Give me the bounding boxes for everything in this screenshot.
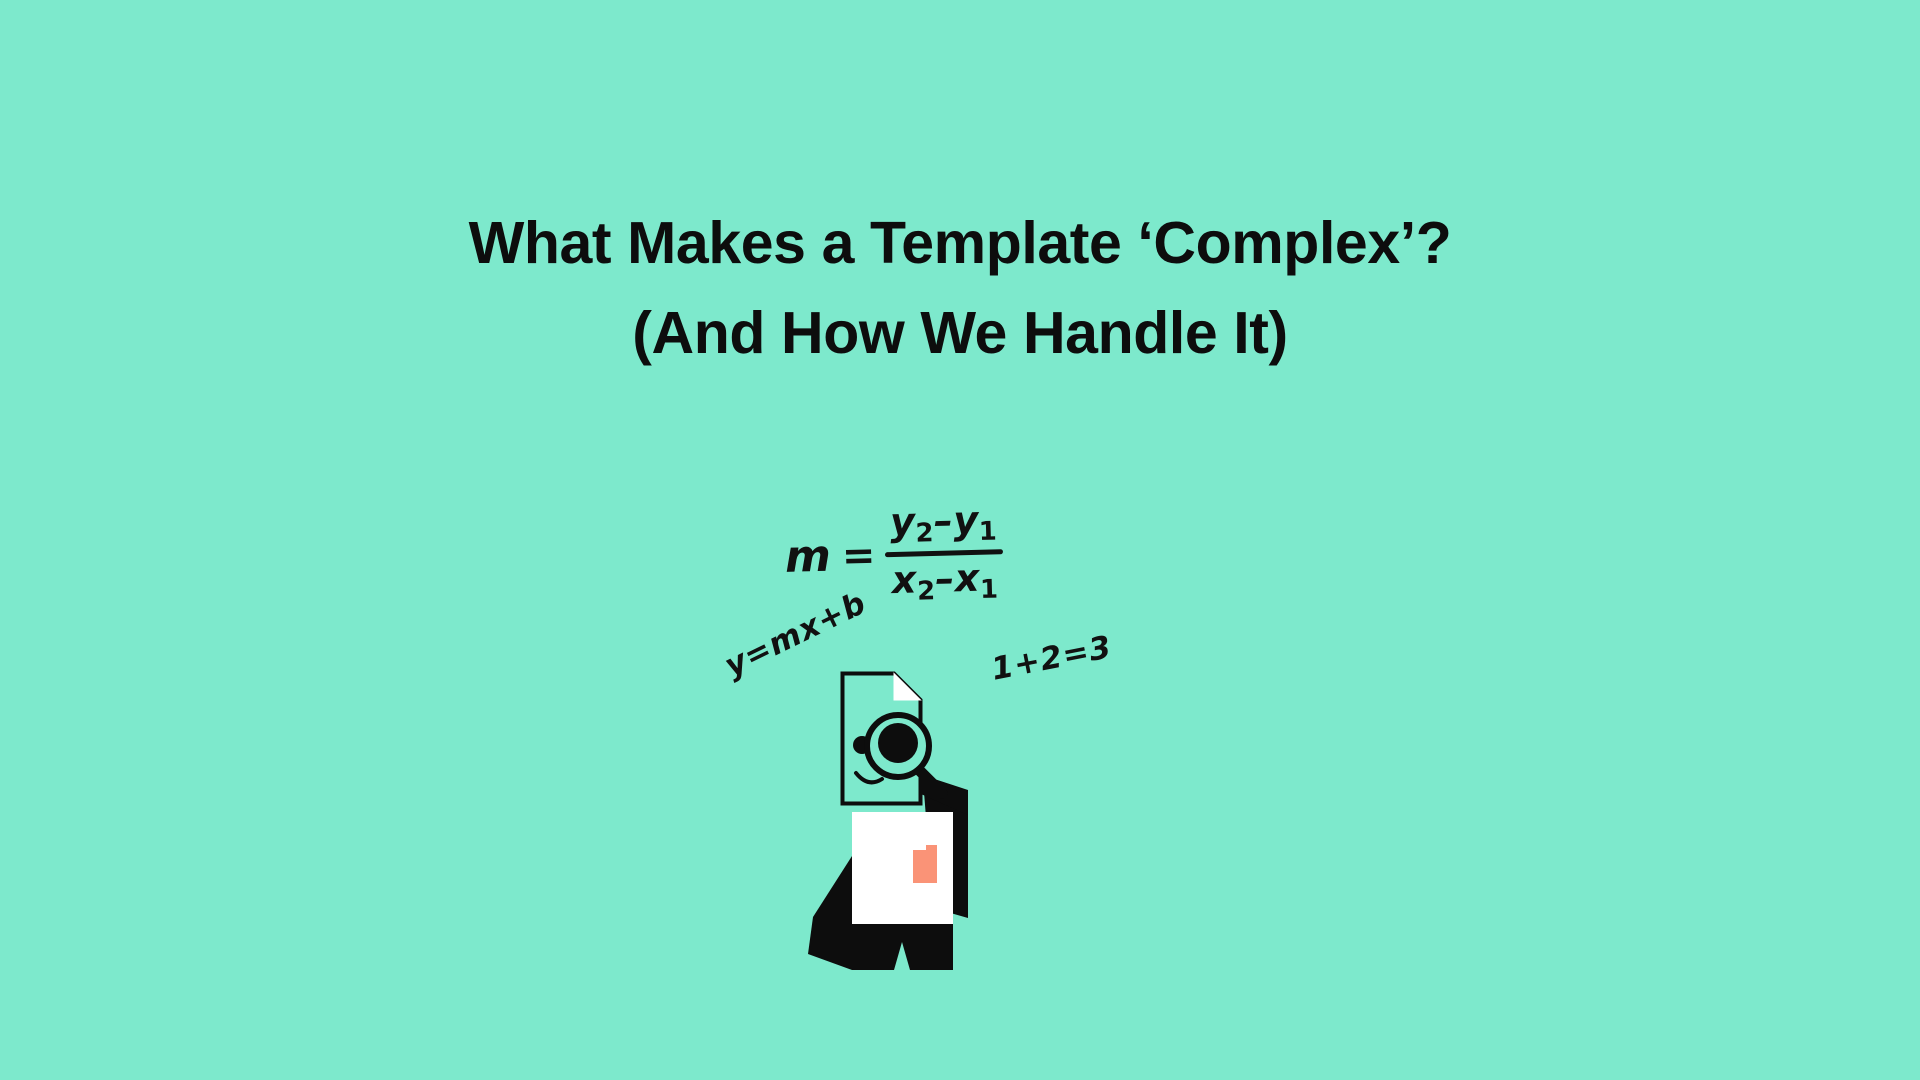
denominator-x1-var: x — [891, 558, 917, 603]
slope-formula-equals: = — [841, 532, 876, 579]
page-title-line-2: (And How We Handle It) — [0, 288, 1920, 378]
slope-formula-denominator: x2–x1 — [887, 555, 1003, 609]
denominator-x1-sub: 2 — [917, 576, 936, 606]
numerator-y2-var: y — [953, 498, 979, 543]
numerator-minus: – — [933, 498, 954, 542]
slope-formula-numerator: y2–y1 — [885, 497, 1001, 551]
legs-icon — [852, 922, 953, 970]
numerator-y2-sub: 1 — [978, 517, 997, 547]
denominator-minus: – — [935, 557, 956, 601]
character-illustration — [790, 640, 1120, 970]
slope-formula: m = y2–y1 x2–x1 — [784, 497, 1005, 612]
denominator-x2-sub: 1 — [980, 575, 999, 605]
left-arm-icon — [808, 856, 852, 970]
numerator-y1-sub: 2 — [915, 518, 934, 548]
page-title-line-1: What Makes a Template ‘Complex’? — [0, 198, 1920, 288]
torso-icon — [852, 812, 953, 924]
numerator-y1-var: y — [889, 499, 915, 544]
pocket-icon — [913, 845, 937, 883]
page-title: What Makes a Template ‘Complex’? (And Ho… — [0, 198, 1920, 378]
slope-formula-lhs: m — [784, 531, 832, 583]
slide-canvas: What Makes a Template ‘Complex’? (And Ho… — [0, 0, 1920, 1080]
slope-formula-fraction: y2–y1 x2–x1 — [884, 497, 1005, 609]
denominator-x2-var: x — [954, 556, 980, 601]
